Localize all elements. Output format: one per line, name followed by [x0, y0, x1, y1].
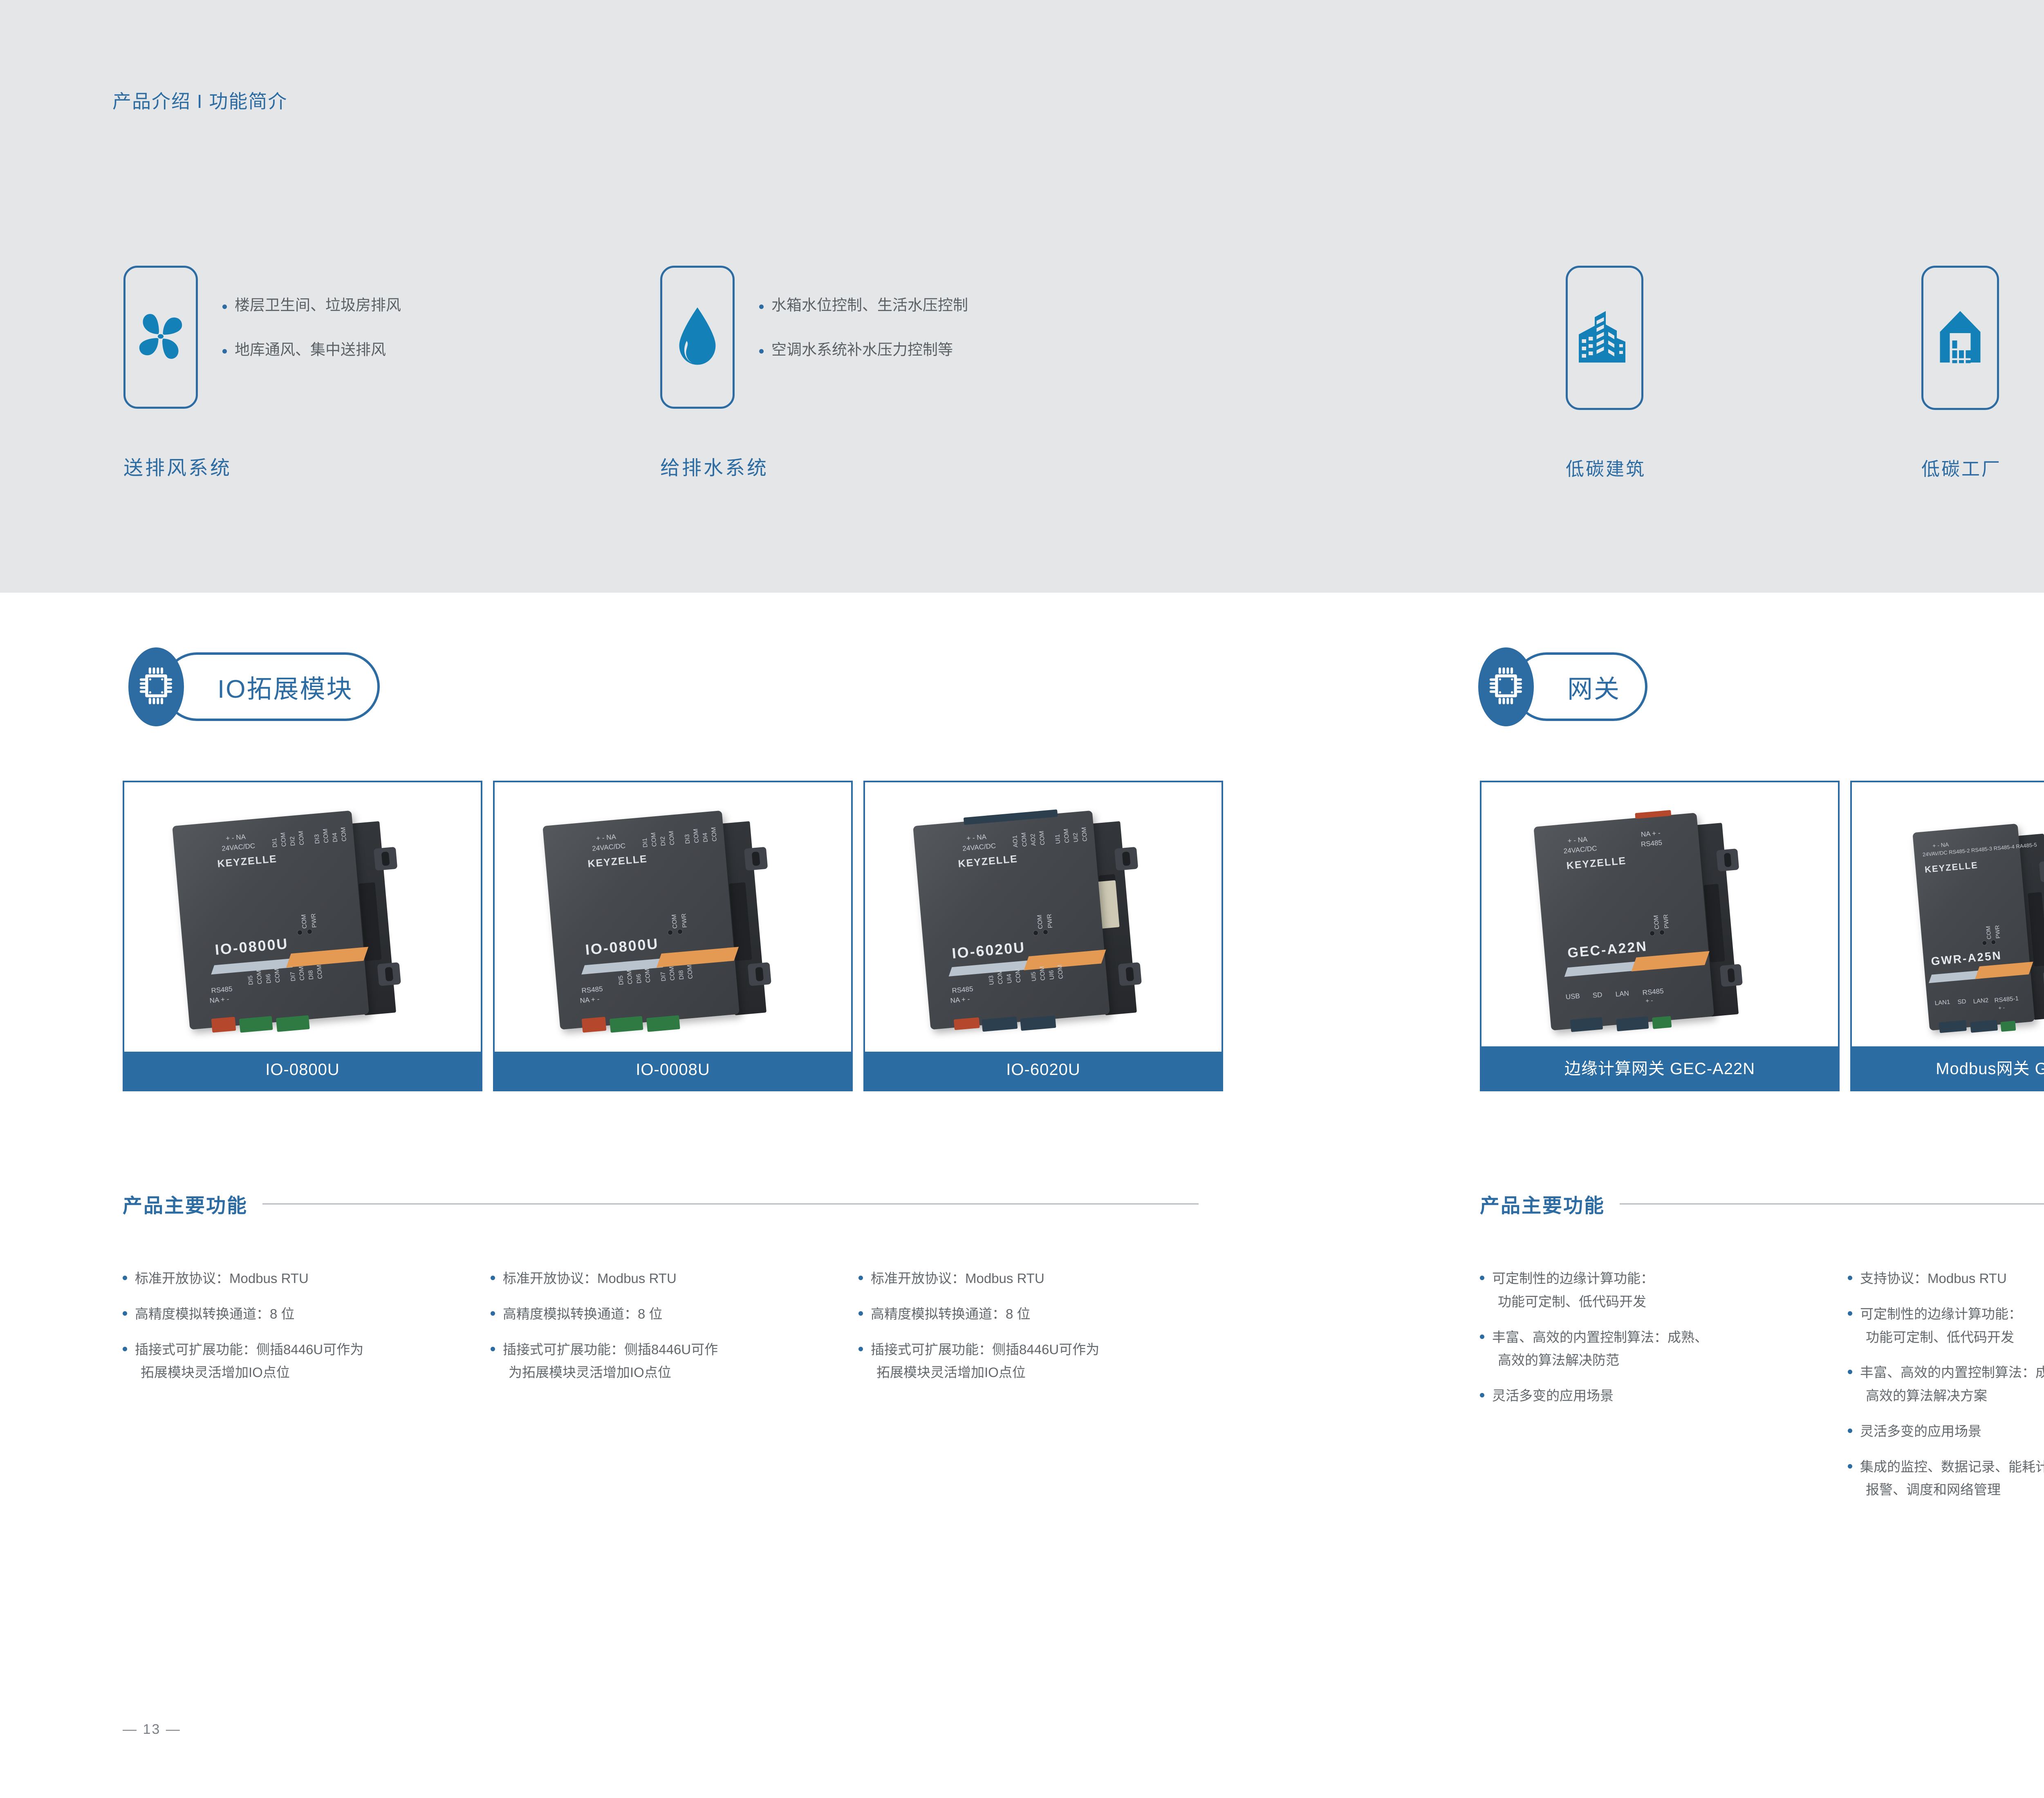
device-pin-label: AO2	[1029, 833, 1038, 846]
product-image: + - NA 24VAC/DC NA + - RS485 KEYZELLE CO…	[1481, 782, 1838, 1046]
device-power-label: + - NA	[966, 833, 986, 843]
features-header-io: 产品主要功能	[123, 1189, 1222, 1218]
factory-icon-box	[1921, 266, 1999, 410]
device-pin-label: COM	[1038, 966, 1047, 981]
device-pin-label: COM	[1038, 831, 1046, 845]
scenario-title-water: 给排水系统	[660, 452, 769, 480]
device-pin-label: DI2	[289, 836, 297, 846]
product-image: + - NA 24VAC/DC DI1 COM DI2 COM DI3 COM …	[124, 782, 481, 1052]
device-pin-label: COM	[255, 970, 264, 984]
features-column: 标准开放协议：Modbus RTU 高精度模拟转换通道：8 位 插接式可扩展功能…	[858, 1267, 1226, 1397]
list-item-line: 可定制性的边缘计算功能：	[1860, 1306, 2022, 1321]
category-label: 低碳工厂	[1921, 454, 1999, 481]
io-product-card-row: + - NA 24VAC/DC DI1 COM DI2 COM DI3 COM …	[123, 781, 1223, 1091]
features-columns-io: 标准开放协议：Modbus RTU 高精度模拟转换通道：8 位 插接式可扩展功能…	[123, 1267, 1226, 1397]
device-pin-label: COM	[644, 968, 652, 983]
device-pin-label: COM	[1014, 968, 1022, 983]
chip-icon-circle	[1478, 647, 1534, 726]
list-item: 高精度模拟转换通道：8 位	[491, 1303, 858, 1326]
water-drop-icon-box	[660, 266, 735, 409]
device-pin-label: COM	[710, 827, 718, 842]
device-rs485-pins-top: NA + -	[1641, 829, 1661, 839]
list-item: 支持协议：Modbus RTU	[1848, 1267, 2044, 1290]
product-card[interactable]: + - NA 24VAC/DC DI1 COM DI2 COM DI3 COM …	[123, 781, 482, 1091]
device-illustration: + - NA 24VAC/DC DI1 COM DI2 COM DI3 COM …	[151, 795, 457, 1052]
device-pin-label: UI4	[1006, 974, 1013, 984]
device-pin-label: DI2	[659, 836, 667, 846]
device-pin-label: DI3	[313, 834, 321, 844]
fan-icon	[133, 309, 188, 366]
device-pin-label: COM	[340, 827, 348, 842]
device-pin-label: DI6	[635, 974, 643, 984]
product-image: + - NA 24VAC/DC DI1 COM DI2 COM DI3 COM …	[495, 782, 851, 1052]
list-item-line: 丰富、高效的内置控制算法：成熟、	[1860, 1365, 2044, 1380]
device-pin-label: DI5	[247, 975, 255, 985]
device-pin-label: COM	[1056, 964, 1065, 979]
list-item: 楼层卫生间、垃圾房排风	[222, 298, 401, 313]
device-pin-label: DI7	[289, 972, 297, 982]
section-badge-label: 网关	[1567, 668, 1620, 705]
list-item-line: 高效的算法解决方案	[1860, 1384, 2044, 1408]
water-drop-icon	[673, 306, 722, 369]
device-pin-label: COM	[1062, 828, 1071, 843]
device-pin-label: COM	[1020, 832, 1029, 847]
list-item-line: 插接式可扩展功能：侧插8446U可作为	[871, 1342, 1099, 1357]
list-item-line: 高效的算法解决防范	[1492, 1349, 1848, 1372]
badge-pill: IO拓展模块	[163, 652, 380, 721]
list-item: 水箱水位控制、生活水压控制	[759, 298, 968, 313]
product-image: + - NA 24VAC/DC AO1 COM AO2 COM UI1 COM …	[865, 782, 1221, 1052]
list-item-line: 拓展模块灵活增加IO点位	[135, 1361, 491, 1384]
device-port-label: SD	[1957, 998, 1966, 1006]
device-pin-label: DI5	[617, 975, 625, 985]
device-port-label: USB	[1565, 992, 1580, 1001]
factory-icon	[1934, 306, 1987, 369]
device-illustration: + - NA 24VAC/DC DI1 COM DI2 COM DI3 COM …	[522, 795, 828, 1052]
device-led-label: PWR	[1046, 914, 1054, 928]
product-caption: IO-6020U	[865, 1052, 1221, 1090]
list-item: 插接式可扩展功能：侧插8446U可作为 拓展模块灵活增加IO点位	[123, 1338, 491, 1385]
device-power-label: + - NA	[1567, 835, 1588, 845]
list-item-line: 插接式可扩展功能：侧插8446U可作	[503, 1342, 718, 1357]
device-pin-label: UI2	[1072, 833, 1080, 843]
device-pin-label: COM	[1080, 827, 1089, 842]
device-pin-label: AO1	[1011, 835, 1020, 848]
list-item-line: 集成的监控、数据记录、能耗计量、	[1860, 1459, 2044, 1474]
device-pin-label: COM	[316, 964, 324, 979]
category-low-carbon-building: 低碳建筑	[1566, 266, 1643, 481]
scenario-ventilation: 楼层卫生间、垃圾房排风 地库通风、集中送排风	[123, 266, 401, 409]
chip-icon-circle	[128, 647, 184, 726]
list-item: 高精度模拟转换通道：8 位	[123, 1303, 491, 1326]
list-item-line: 为拓展模块灵活增加IO点位	[503, 1361, 858, 1384]
device-pin-label: COM	[626, 970, 634, 984]
device-pin-label: DI4	[331, 833, 339, 843]
list-item-line: 功能可定制、低代码开发	[1860, 1326, 2044, 1349]
list-item: 集成的监控、数据记录、能耗计量、 报警、调度和网络管理	[1848, 1455, 2044, 1502]
product-card[interactable]: + - NA 24VAC/DC NA + - RS485 KEYZELLE CO…	[1480, 781, 1840, 1091]
device-led-label: COM	[670, 914, 679, 929]
device-illustration: + - NA 24VAV/DC RS485-2 RS485-3 RS485-4 …	[1899, 800, 2044, 1046]
list-item-line: 功能可定制、低代码开发	[1492, 1290, 1848, 1314]
features-column: 支持协议：Modbus RTU 可定制性的边缘计算功能： 功能可定制、低代码开发…	[1848, 1267, 2044, 1514]
page-number-left: — 13 —	[123, 1722, 181, 1738]
list-item: 可定制性的边缘计算功能： 功能可定制、低代码开发	[1848, 1303, 2044, 1349]
device-pin-label: UI3	[988, 975, 995, 985]
features-columns-gateway: 可定制性的边缘计算功能： 功能可定制、低代码开发 丰富、高效的内置控制算法：成熟…	[1480, 1267, 2044, 1514]
list-item-line: 丰富、高效的内置控制算法：成熟、	[1492, 1330, 1708, 1345]
device-power-label: + - NA	[225, 833, 246, 843]
list-item: 插接式可扩展功能：侧插8446U可作 为拓展模块灵活增加IO点位	[491, 1338, 858, 1385]
device-led-label: COM	[300, 914, 308, 929]
device-pin-label: DI8	[307, 970, 315, 980]
features-column: 标准开放协议：Modbus RTU 高精度模拟转换通道：8 位 插接式可扩展功能…	[491, 1267, 858, 1397]
device-pin-label: DI3	[684, 834, 691, 844]
device-illustration: + - NA 24VAC/DC AO1 COM AO2 COM UI1 COM …	[892, 795, 1198, 1052]
ventilation-bullet-list: 楼层卫生间、垃圾房排风 地库通风、集中送排风	[222, 266, 401, 387]
section-badge-label: IO拓展模块	[217, 668, 353, 705]
chip-icon	[1488, 665, 1524, 708]
features-title: 产品主要功能	[1480, 1189, 1605, 1218]
product-caption: IO-0008U	[495, 1052, 851, 1090]
list-item: 标准开放协议：Modbus RTU	[491, 1267, 858, 1290]
list-item: 灵活多变的应用场景	[1848, 1420, 2044, 1443]
features-column: 可定制性的边缘计算功能： 功能可定制、低代码开发 丰富、高效的内置控制算法：成熟…	[1480, 1267, 1848, 1514]
page-header-left: 产品介绍 I 功能简介	[112, 87, 287, 114]
device-rs485-pins: NA + -	[950, 995, 970, 1005]
category-low-carbon-factory: 低碳工厂	[1921, 266, 1999, 481]
device-rs485-pins: NA + -	[209, 995, 229, 1005]
device-pin-label: UI1	[1054, 834, 1062, 844]
device-pin-label: COM	[273, 968, 282, 983]
fan-icon-box	[123, 266, 198, 409]
product-caption: IO-0800U	[124, 1052, 481, 1090]
device-pin-label: DI1	[271, 837, 279, 848]
device-pin-label: COM	[686, 964, 694, 979]
device-pin-label: COM	[280, 832, 288, 847]
device-pin-label: DI8	[677, 970, 685, 980]
list-item: 丰富、高效的内置控制算法：成熟、 高效的算法解决防范	[1480, 1326, 1848, 1373]
device-pin-label: UI6	[1048, 970, 1056, 980]
list-item-line: 报警、调度和网络管理	[1860, 1478, 2044, 1502]
office-building-icon-box	[1566, 266, 1643, 410]
device-port-pins: + -	[1645, 997, 1653, 1004]
device-port-label: LAN2	[1973, 997, 1989, 1005]
device-led-label: COM	[1985, 926, 1992, 940]
product-card[interactable]: + - NA 24VAC/DC DI1 COM DI2 COM DI3 COM …	[493, 781, 853, 1091]
list-item: 地库通风、集中送排风	[222, 342, 401, 357]
product-caption: Modbus网关 GWR-A25N	[1852, 1046, 2044, 1090]
list-item-line: 可定制性的边缘计算功能：	[1492, 1271, 1654, 1286]
scenario-water: 水箱水位控制、生活水压控制 空调水系统补水压力控制等	[660, 266, 968, 409]
device-led-label: PWR	[310, 913, 318, 928]
list-item: 标准开放协议：Modbus RTU	[858, 1267, 1226, 1290]
product-image: + - NA 24VAV/DC RS485-2 RS485-3 RS485-4 …	[1852, 782, 2044, 1046]
device-pin-label: COM	[298, 966, 306, 981]
features-column: 标准开放协议：Modbus RTU 高精度模拟转换通道：8 位 插接式可扩展功能…	[123, 1267, 491, 1397]
device-pin-label: COM	[322, 828, 330, 843]
device-led-label: PWR	[1662, 914, 1670, 929]
list-item: 高精度模拟转换通道：8 位	[858, 1303, 1226, 1326]
list-item: 标准开放协议：Modbus RTU	[123, 1267, 491, 1290]
device-pin-label: DI4	[702, 833, 709, 843]
device-led-label: COM	[1036, 914, 1044, 929]
device-pin-label: COM	[668, 831, 676, 845]
device-pin-label: DI6	[265, 974, 273, 984]
list-item: 丰富、高效的内置控制算法：成熟、 高效的算法解决方案	[1848, 1361, 2044, 1408]
device-port-label: SD	[1592, 991, 1602, 1000]
device-power-label: + - NA	[596, 833, 616, 843]
list-item: 插接式可扩展功能：侧插8446U可作为 拓展模块灵活增加IO点位	[858, 1338, 1226, 1385]
device-pin-label: UI5	[1030, 972, 1038, 982]
product-caption: 边缘计算网关 GEC-A22N	[1481, 1046, 1838, 1090]
section-badge-gateway: 网关	[1478, 646, 1647, 728]
list-item-line: 插接式可扩展功能：侧插8446U可作为	[135, 1342, 363, 1357]
category-label: 低碳建筑	[1566, 454, 1643, 481]
device-led-label: PWR	[680, 913, 688, 928]
device-pin-label: COM	[692, 828, 700, 843]
device-pin-label: DI1	[641, 837, 649, 848]
product-card[interactable]: + - NA 24VAC/DC AO1 COM AO2 COM UI1 COM …	[863, 781, 1223, 1091]
device-port-pins: + -	[1998, 1004, 2005, 1011]
list-item: 可定制性的边缘计算功能： 功能可定制、低代码开发	[1480, 1267, 1848, 1314]
section-badge-io-modules: IO拓展模块	[128, 646, 380, 728]
device-pin-label: COM	[668, 966, 676, 981]
device-pin-label: DI7	[659, 972, 667, 982]
device-port-label: LAN1	[1934, 999, 1950, 1007]
gateway-product-card-row: + - NA 24VAC/DC NA + - RS485 KEYZELLE CO…	[1480, 781, 2044, 1091]
divider	[262, 1203, 1199, 1205]
product-card[interactable]: + - NA 24VAV/DC RS485-2 RS485-3 RS485-4 …	[1850, 781, 2044, 1091]
list-item: 灵活多变的应用场景	[1480, 1384, 1848, 1408]
device-illustration: + - NA 24VAC/DC NA + - RS485 KEYZELLE CO…	[1517, 795, 1815, 1046]
office-building-icon	[1576, 306, 1633, 369]
chip-icon	[139, 665, 174, 708]
device-port-label: LAN	[1615, 989, 1629, 999]
scenario-title-ventilation: 送排风系统	[123, 452, 232, 480]
list-item: 空调水系统补水压力控制等	[759, 342, 968, 357]
list-item-line: 拓展模块灵活增加IO点位	[871, 1361, 1226, 1384]
device-rs485-pins: NA + -	[580, 995, 600, 1005]
device-pin-label: COM	[996, 970, 1004, 984]
water-bullet-list: 水箱水位控制、生活水压控制 空调水系统补水压力控制等	[759, 266, 968, 387]
device-led-label: COM	[1652, 915, 1661, 929]
features-header-gateway: 产品主要功能	[1480, 1189, 2044, 1218]
features-title: 产品主要功能	[123, 1189, 248, 1218]
device-pin-label: COM	[297, 831, 305, 845]
device-led-label: PWR	[1994, 925, 2001, 939]
divider	[1620, 1203, 2044, 1205]
device-pin-label: COM	[650, 832, 658, 847]
